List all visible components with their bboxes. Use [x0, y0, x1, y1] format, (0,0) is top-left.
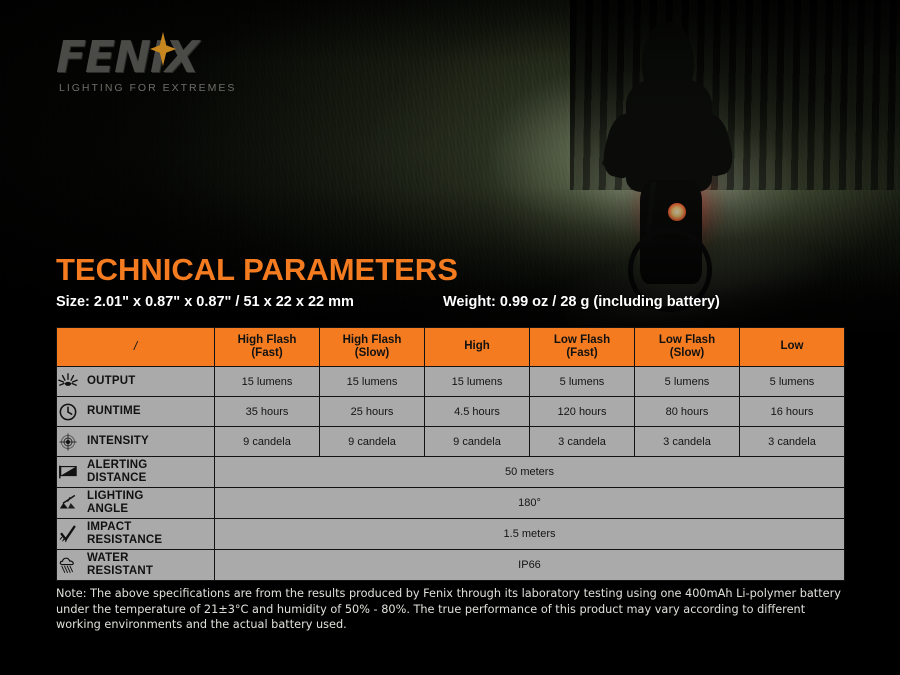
beam-distance-icon: [57, 462, 79, 482]
spec-size: Size: 2.01" x 0.87" x 0.87" / 51 x 22 x …: [56, 294, 354, 310]
cell-output-low-flash-fast: 5 lumens: [530, 367, 635, 397]
four-point-star-icon: [150, 32, 176, 66]
cell-intensity-high: 9 candela: [425, 427, 530, 457]
table-row: IMPACT RESISTANCE 1.5 meters: [57, 519, 845, 550]
table-row: ALERTING DISTANCE 50 meters: [57, 457, 845, 488]
row-label-text: OUTPUT: [87, 375, 135, 388]
row-label-intensity: INTENSITY: [57, 427, 215, 457]
row-label-text: LIGHTING ANGLE: [87, 490, 144, 515]
cell-alerting-distance-value: 50 meters: [215, 457, 845, 488]
cell-output-high: 15 lumens: [425, 367, 530, 397]
table-header-row: / High Flash (Fast) High Flash (Slow) Hi…: [57, 328, 845, 367]
row-label-text: ALERTING DISTANCE: [87, 459, 147, 484]
row-label-impact-resistance: IMPACT RESISTANCE: [57, 519, 215, 550]
row-label-lighting-angle: LIGHTING ANGLE: [57, 488, 215, 519]
clock-icon: [57, 402, 79, 422]
cell-runtime-high-flash-fast: 35 hours: [215, 397, 320, 427]
fenix-logo: FENIX LIGHTING FOR EXTREMES: [56, 36, 316, 96]
footnote: Note: The above specifications are from …: [56, 586, 846, 633]
header-corner: /: [57, 328, 215, 367]
row-label-water-resistant: WATER RESISTANT: [57, 550, 215, 581]
cell-lighting-angle-value: 180°: [215, 488, 845, 519]
cell-runtime-low-flash-slow: 80 hours: [635, 397, 740, 427]
cell-runtime-high: 4.5 hours: [425, 397, 530, 427]
cell-output-high-flash-slow: 15 lumens: [320, 367, 425, 397]
cell-intensity-low-flash-slow: 3 candela: [635, 427, 740, 457]
cell-intensity-low: 3 candela: [740, 427, 845, 457]
lighting-angle-icon: [57, 493, 79, 513]
water-resistant-icon: [57, 555, 79, 575]
cell-intensity-low-flash-fast: 3 candela: [530, 427, 635, 457]
cell-water-resistant-value: IP66: [215, 550, 845, 581]
header-high: High: [425, 328, 530, 367]
header-low-flash-fast: Low Flash (Fast): [530, 328, 635, 367]
cell-intensity-high-flash-fast: 9 candela: [215, 427, 320, 457]
cell-output-low-flash-slow: 5 lumens: [635, 367, 740, 397]
cell-runtime-low: 16 hours: [740, 397, 845, 427]
technical-parameters-table: / High Flash (Fast) High Flash (Slow) Hi…: [56, 327, 845, 581]
fenix-tagline: LIGHTING FOR EXTREMES: [59, 82, 236, 94]
cell-impact-resistance-value: 1.5 meters: [215, 519, 845, 550]
row-label-text: RUNTIME: [87, 405, 141, 418]
row-label-text: WATER RESISTANT: [87, 552, 153, 577]
row-label-text: INTENSITY: [87, 435, 149, 448]
table-row: OUTPUT 15 lumens 15 lumens 15 lumens 5 l…: [57, 367, 845, 397]
header-high-flash-slow: High Flash (Slow): [320, 328, 425, 367]
row-label-alerting-distance: ALERTING DISTANCE: [57, 457, 215, 488]
header-low: Low: [740, 328, 845, 367]
header-high-flash-fast: High Flash (Fast): [215, 328, 320, 367]
cell-output-high-flash-fast: 15 lumens: [215, 367, 320, 397]
table-row: INTENSITY 9 candela 9 candela 9 candela …: [57, 427, 845, 457]
table-row: WATER RESISTANT IP66: [57, 550, 845, 581]
table-row: RUNTIME 35 hours 25 hours 4.5 hours 120 …: [57, 397, 845, 427]
fenix-wordmark: FENIX: [56, 36, 198, 80]
row-label-text: IMPACT RESISTANCE: [87, 521, 162, 546]
row-label-runtime: RUNTIME: [57, 397, 215, 427]
header-low-flash-slow: Low Flash (Slow): [635, 328, 740, 367]
table-row: LIGHTING ANGLE 180°: [57, 488, 845, 519]
product-spec-page: FENIX LIGHTING FOR EXTREMES TECHNICAL PA…: [0, 0, 900, 675]
cell-runtime-low-flash-fast: 120 hours: [530, 397, 635, 427]
row-label-output: OUTPUT: [57, 367, 215, 397]
cell-output-low: 5 lumens: [740, 367, 845, 397]
cell-runtime-high-flash-slow: 25 hours: [320, 397, 425, 427]
cell-intensity-high-flash-slow: 9 candela: [320, 427, 425, 457]
page-title: TECHNICAL PARAMETERS: [56, 252, 458, 288]
output-burst-icon: [57, 372, 79, 392]
impact-resistance-icon: [57, 524, 79, 544]
crosshair-target-icon: [57, 432, 79, 452]
spec-weight: Weight: 0.99 oz / 28 g (including batter…: [443, 294, 720, 310]
